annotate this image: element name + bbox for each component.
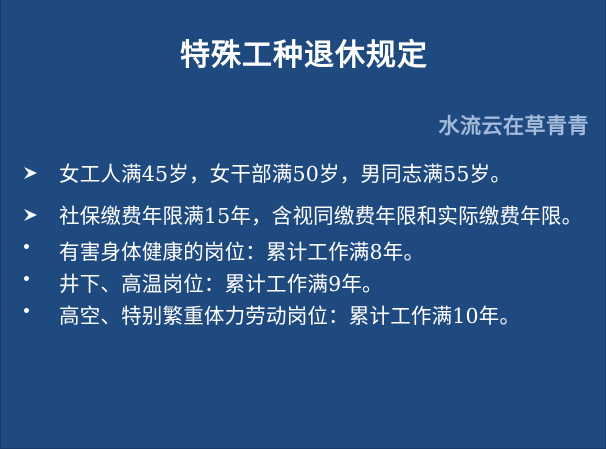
bullet-list: 女工人满45岁，女干部满50岁，男同志满55岁。 社保缴费年限满15年，含视同缴… [18, 156, 596, 334]
list-item: 有害身体健康的岗位：累计工作满8年。 [18, 238, 596, 270]
list-item-label: 有害身体健康的岗位：累计工作满8年。 [59, 238, 596, 267]
slide-subtitle-signature: 水流云在草青青 [439, 113, 590, 139]
dot-bullet-icon [18, 238, 59, 270]
dot-bullet-icon [18, 270, 59, 302]
list-item-label: 社保缴费年限满15年，含视同缴费年限和实际缴费年限。 [59, 198, 596, 234]
list-item-label: 井下、高温岗位：累计工作满9年。 [59, 270, 596, 299]
page-title: 特殊工种退休规定 [1, 36, 606, 76]
list-item: 社保缴费年限满15年，含视同缴费年限和实际缴费年限。 [18, 198, 596, 234]
list-item: 高空、特别繁重体力劳动岗位：累计工作满10年。 [18, 302, 596, 334]
list-item-label: 女工人满45岁，女干部满50岁，男同志满55岁。 [59, 156, 596, 192]
presentation-slide: 特殊工种退休规定 水流云在草青青 女工人满45岁，女干部满50岁，男同志满55岁… [0, 0, 606, 449]
list-item: 女工人满45岁，女干部满50岁，男同志满55岁。 [18, 156, 596, 192]
list-item-label: 高空、特别繁重体力劳动岗位：累计工作满10年。 [59, 302, 596, 331]
list-item: 井下、高温岗位：累计工作满9年。 [18, 270, 596, 302]
arrow-bullet-icon [18, 198, 59, 230]
arrow-bullet-icon [18, 156, 59, 188]
dot-bullet-icon [18, 302, 59, 334]
